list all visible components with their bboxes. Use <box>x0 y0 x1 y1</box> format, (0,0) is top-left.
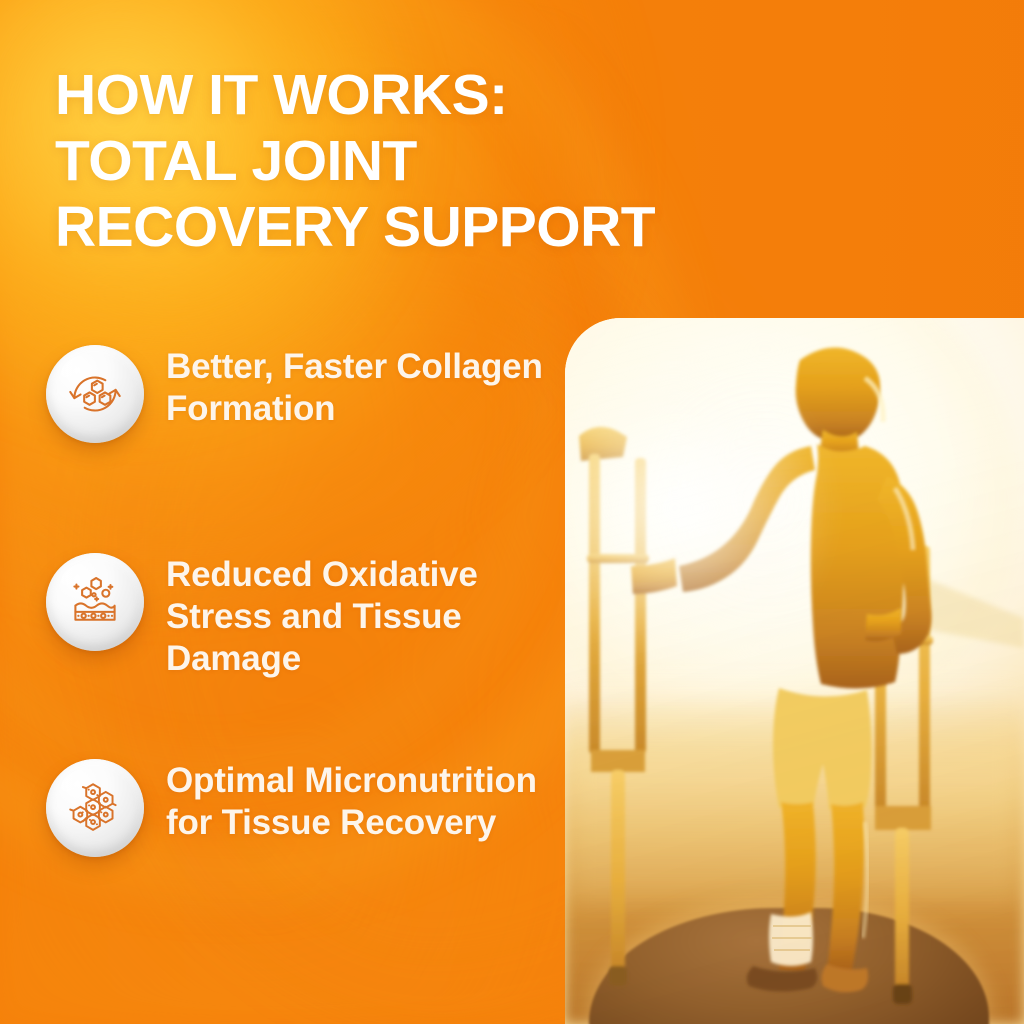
man-on-crutches-sunset-photo <box>565 318 1024 1024</box>
infographic-canvas: HOW IT WORKS: TOTAL JOINT RECOVERY SUPPO… <box>0 0 1024 1024</box>
honeycomb-micronutrition-icon <box>46 759 144 857</box>
headline-line-1: HOW IT WORKS: <box>55 62 795 128</box>
benefit-item-micronutrition: Optimal Micronutrition for Tissue Recove… <box>46 759 558 857</box>
tissue-oxidative-stress-icon <box>46 553 144 651</box>
page-title: HOW IT WORKS: TOTAL JOINT RECOVERY SUPPO… <box>55 62 795 260</box>
photo-warm-grade <box>565 318 1024 1024</box>
benefit-label-collagen: Better, Faster Collagen Formation <box>166 345 558 430</box>
benefit-label-micronutrition: Optimal Micronutrition for Tissue Recove… <box>166 759 558 844</box>
collagen-renewal-hexagons-icon <box>46 345 144 443</box>
benefit-item-oxidative-stress: Reduced Oxidative Stress and Tissue Dama… <box>46 553 558 680</box>
benefit-label-oxidative-stress: Reduced Oxidative Stress and Tissue Dama… <box>166 553 558 680</box>
headline-line-3: RECOVERY SUPPORT <box>55 194 795 260</box>
benefit-item-collagen: Better, Faster Collagen Formation <box>46 345 558 443</box>
headline-line-2: TOTAL JOINT <box>55 128 795 194</box>
